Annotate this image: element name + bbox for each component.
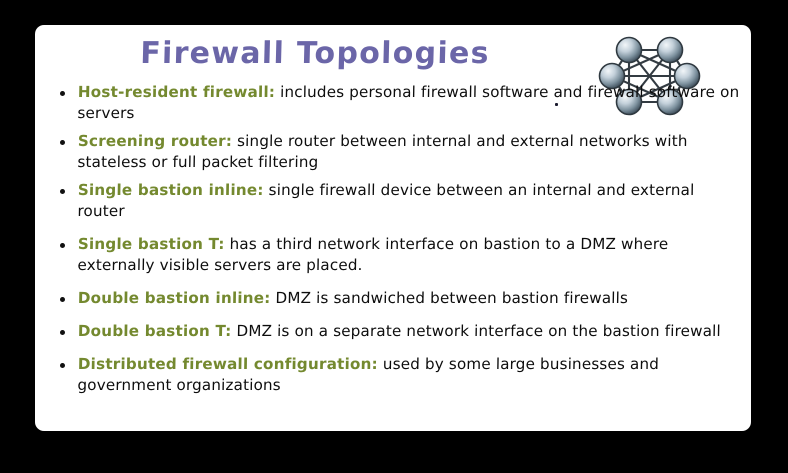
bullet-description: DMZ is on a separate network interface o…	[231, 322, 721, 340]
bullet-dot-icon	[60, 243, 65, 248]
bullet-list: Host-resident firewall: includes persona…	[53, 82, 741, 405]
bullet-term: Host-resident firewall:	[78, 83, 276, 101]
bullet-description: DMZ is sandwiched between bastion firewa…	[270, 289, 628, 307]
bullet-text: Single bastion inline: single firewall d…	[77, 180, 741, 222]
bullet-dot-icon	[60, 297, 65, 302]
bullet-term: Single bastion inline:	[78, 181, 264, 199]
bullet-text: Screening router: single router between …	[77, 131, 741, 173]
bullet-term: Double bastion inline:	[78, 289, 271, 307]
bullet-dot-icon	[60, 189, 65, 194]
bullet-text: Double bastion T: DMZ is on a separate n…	[78, 321, 741, 342]
slide-stage: Firewall Topologies	[0, 0, 788, 473]
list-item: Double bastion T: DMZ is on a separate n…	[53, 321, 741, 342]
bullet-dot-icon	[60, 330, 65, 335]
list-item: Single bastion inline: single firewall d…	[53, 180, 741, 222]
slide-card: Firewall Topologies	[35, 25, 751, 431]
bullet-term: Double bastion T:	[78, 322, 232, 340]
list-item: Distributed firewall configuration: used…	[53, 354, 741, 396]
list-item: Single bastion T: has a third network in…	[53, 234, 741, 276]
bullet-term: Screening router:	[78, 132, 233, 150]
bullet-text: Distributed firewall configuration: used…	[77, 354, 741, 396]
bullet-dot-icon	[60, 140, 65, 145]
bullet-text: Double bastion inline: DMZ is sandwiched…	[78, 288, 741, 309]
list-item: Host-resident firewall: includes persona…	[53, 82, 741, 124]
list-item: Screening router: single router between …	[53, 131, 741, 173]
bullet-term: Single bastion T:	[78, 235, 225, 253]
bullet-dot-icon	[60, 363, 65, 368]
page-title: Firewall Topologies	[35, 36, 595, 71]
bullet-text: Single bastion T: has a third network in…	[77, 234, 741, 276]
bullet-text: Host-resident firewall: includes persona…	[77, 82, 741, 124]
list-item: Double bastion inline: DMZ is sandwiched…	[53, 288, 741, 309]
bullet-dot-icon	[60, 91, 65, 96]
bullet-term: Distributed firewall configuration:	[78, 355, 378, 373]
